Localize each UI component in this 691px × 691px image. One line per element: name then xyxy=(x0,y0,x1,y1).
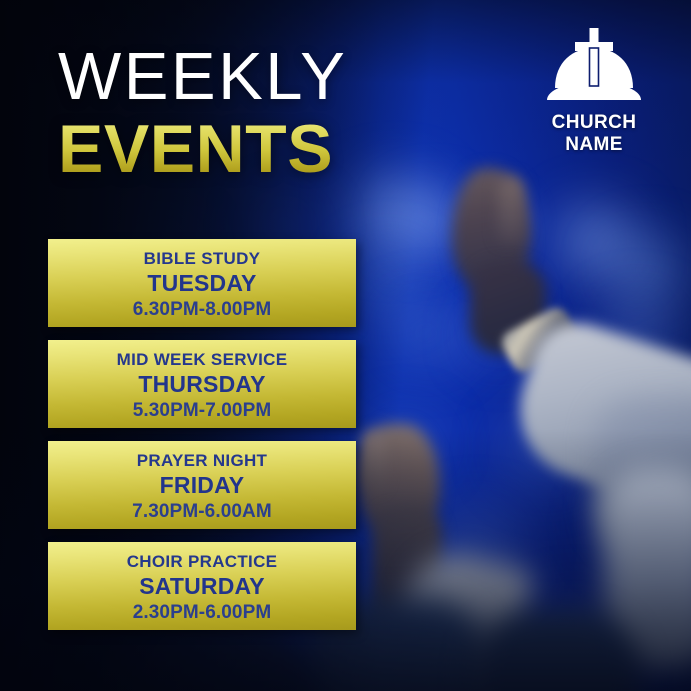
event-card[interactable]: PRAYER NIGHT FRIDAY 7.30PM-6.00AM xyxy=(48,441,356,529)
event-time: 6.30PM-8.00PM xyxy=(48,298,356,322)
church-name-line1: CHURCH xyxy=(519,112,669,134)
cross-on-dome-icon xyxy=(539,26,649,104)
church-name-line2: NAME xyxy=(519,134,669,156)
events-list: BIBLE STUDY TUESDAY 6.30PM-8.00PM MID WE… xyxy=(48,239,356,630)
event-time: 7.30PM-6.00AM xyxy=(48,500,356,524)
page-title: WEEKLY EVENTS xyxy=(58,44,347,183)
event-day: TUESDAY xyxy=(48,269,356,297)
event-card[interactable]: CHOIR PRACTICE SATURDAY 2.30PM-6.00PM xyxy=(48,542,356,630)
event-day: SATURDAY xyxy=(48,572,356,600)
event-day: FRIDAY xyxy=(48,471,356,499)
title-line-weekly: WEEKLY xyxy=(58,44,347,109)
event-time: 5.30PM-7.00PM xyxy=(48,399,356,423)
event-card[interactable]: BIBLE STUDY TUESDAY 6.30PM-8.00PM xyxy=(48,239,356,327)
event-time: 2.30PM-6.00PM xyxy=(48,601,356,625)
title-line-events: EVENTS xyxy=(58,115,347,183)
event-title: CHOIR PRACTICE xyxy=(48,551,356,572)
event-title: PRAYER NIGHT xyxy=(48,450,356,471)
event-title: MID WEEK SERVICE xyxy=(48,349,356,370)
event-card[interactable]: MID WEEK SERVICE THURSDAY 5.30PM-7.00PM xyxy=(48,340,356,428)
event-day: THURSDAY xyxy=(48,370,356,398)
weekly-events-poster: CHURCH NAME WEEKLY EVENTS BIBLE STUDY TU… xyxy=(0,0,691,691)
event-title: BIBLE STUDY xyxy=(48,248,356,269)
church-logo: CHURCH NAME xyxy=(519,26,669,156)
